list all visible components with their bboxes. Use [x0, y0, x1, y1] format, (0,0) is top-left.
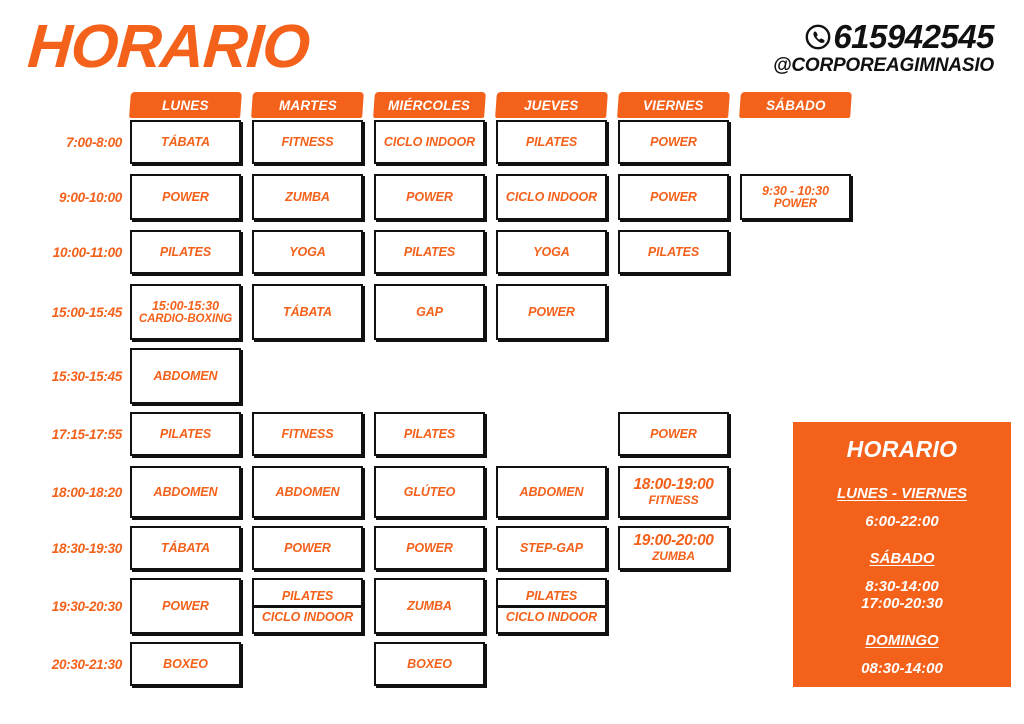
class-slot[interactable]: POWER [618, 412, 729, 456]
time-slot-label: 15:30-15:45 [0, 348, 130, 404]
class-slot[interactable]: POWER [374, 174, 485, 220]
class-slot[interactable]: POWER [130, 174, 241, 220]
class-slot[interactable]: STEP-GAP [496, 526, 607, 570]
schedule-cell-wrapper: TÁBATA [130, 120, 241, 164]
class-name: GAP [416, 305, 443, 319]
class-slot[interactable]: PILATES [496, 120, 607, 164]
day-header-tab[interactable]: VIERNES [617, 92, 730, 118]
opening-hours-title: HORARIO [793, 436, 1011, 463]
schedule-row: 7:00-8:00TÁBATAFITNESSCICLO INDOORPILATE… [0, 120, 1024, 164]
schedule-cell-wrapper [740, 348, 851, 404]
schedule-cell-wrapper: CICLO INDOOR [496, 174, 607, 220]
class-slot[interactable]: GLÚTEO [374, 466, 485, 518]
class-name: STEP-GAP [520, 541, 583, 555]
class-name: PILATES [526, 135, 577, 149]
schedule-cell-wrapper: POWER [618, 174, 729, 220]
schedule-cell-wrapper [496, 642, 607, 686]
day-column-5: VIERNES [618, 92, 729, 118]
empty-slot [618, 578, 729, 634]
day-header-row: LUNESMARTESMIÉRCOLESJUEVESVIERNESSÁBADO [0, 92, 1024, 120]
schedule-cell-wrapper: FITNESS [252, 412, 363, 456]
day-header-label: MIÉRCOLES [388, 98, 470, 113]
schedule-cell-wrapper: ZUMBA [374, 578, 485, 634]
day-header-label: JUEVES [524, 98, 578, 113]
class-name: POWER [406, 190, 453, 204]
schedule-cell-wrapper [252, 348, 363, 404]
day-column-2: MARTES [252, 92, 363, 118]
schedule-cell-wrapper: BOXEO [374, 642, 485, 686]
schedule-cell-wrapper: CICLO INDOOR [374, 120, 485, 164]
empty-slot [740, 348, 851, 404]
class-name: POWER [162, 599, 209, 613]
class-slot[interactable]: 9:30 - 10:30POWER [740, 174, 851, 220]
time-slot-label: 10:00-11:00 [0, 230, 130, 274]
schedule-cell-wrapper: GAP [374, 284, 485, 340]
class-name: CICLO INDOOR [384, 135, 475, 149]
class-slot[interactable]: PILATES [130, 230, 241, 274]
schedule-cell-wrapper: TÁBATA [130, 526, 241, 570]
class-name: CARDIO-BOXING [139, 313, 232, 326]
empty-slot [496, 348, 607, 404]
time-slot-label: 19:30-20:30 [0, 578, 130, 634]
class-name: POWER [406, 541, 453, 555]
class-slot[interactable]: YOGA [496, 230, 607, 274]
class-name: ABDOMEN [520, 485, 584, 499]
class-name: BOXEO [163, 657, 208, 671]
class-name: ZUMBA [285, 190, 330, 204]
class-slot[interactable]: TÁBATA [252, 284, 363, 340]
day-header-tab[interactable]: SÁBADO [739, 92, 852, 118]
slot-divider [254, 605, 361, 608]
class-name: PILATES [404, 427, 455, 441]
class-name: BOXEO [407, 657, 452, 671]
class-name: PILATES [404, 245, 455, 259]
class-name-secondary: CICLO INDOOR [254, 610, 361, 624]
day-header-tab[interactable]: MARTES [251, 92, 364, 118]
phone-circle-icon [805, 24, 831, 50]
class-slot[interactable]: CICLO INDOOR [496, 174, 607, 220]
schedule-cell-wrapper: ABDOMEN [130, 348, 241, 404]
schedule-cell-wrapper [496, 348, 607, 404]
empty-slot [618, 284, 729, 340]
class-name: POWER [774, 198, 817, 211]
time-slot-label: 18:30-19:30 [0, 526, 130, 570]
class-name: POWER [528, 305, 575, 319]
class-slot[interactable]: PILATES [130, 412, 241, 456]
class-name-primary: PILATES [254, 589, 361, 603]
class-name: ZUMBA [407, 599, 452, 613]
phone-row: 615942545 [773, 20, 994, 53]
day-header-tab[interactable]: MIÉRCOLES [373, 92, 486, 118]
class-name: PILATES [160, 427, 211, 441]
day-header-label: MARTES [279, 98, 337, 113]
schedule-cell-wrapper: PILATES [374, 230, 485, 274]
day-column-6: SÁBADO [740, 92, 851, 118]
class-name: TÁBATA [283, 305, 332, 319]
class-name: POWER [650, 135, 697, 149]
schedule-cell-wrapper: PILATESCICLO INDOOR [252, 578, 363, 634]
schedule-row: 9:00-10:00POWERZUMBAPOWERCICLO INDOORPOW… [0, 174, 1024, 220]
schedule-cell-wrapper: BOXEO [130, 642, 241, 686]
schedule-cell-wrapper: POWER [374, 526, 485, 570]
schedule-cell-wrapper: 19:00-20:00ZUMBA [618, 526, 729, 570]
day-header-tab[interactable]: JUEVES [495, 92, 608, 118]
class-slot-timed[interactable]: 19:00-20:00ZUMBA [618, 526, 729, 570]
schedule-row: 10:00-11:00PILATESYOGAPILATESYOGAPILATES [0, 230, 1024, 274]
schedule-cell-wrapper: STEP-GAP [496, 526, 607, 570]
schedule-cell-wrapper: ABDOMEN [252, 466, 363, 518]
class-slot[interactable]: POWER [618, 174, 729, 220]
class-slot[interactable]: 15:00-15:30CARDIO-BOXING [130, 284, 241, 340]
class-name: ABDOMEN [154, 369, 218, 383]
time-slot-label: 18:00-18:20 [0, 466, 130, 518]
empty-slot [740, 284, 851, 340]
schedule-cell-wrapper: PILATES [130, 412, 241, 456]
class-name: CICLO INDOOR [506, 190, 597, 204]
day-header-label: LUNES [162, 98, 209, 113]
class-slot[interactable]: TÁBATA [130, 120, 241, 164]
opening-hours-day: DOMINGO [793, 632, 1011, 649]
class-name: ABDOMEN [154, 485, 218, 499]
slot-divider [498, 605, 605, 608]
schedule-cell-wrapper [496, 412, 607, 456]
phone-number: 615942545 [833, 20, 994, 53]
day-column-4: JUEVES [496, 92, 607, 118]
schedule-cell-wrapper: 9:30 - 10:30POWER [740, 174, 851, 220]
class-name: PILATES [160, 245, 211, 259]
opening-hours-value: 6:00-22:00 [793, 513, 1011, 531]
empty-slot [618, 348, 729, 404]
class-name-primary: PILATES [498, 589, 605, 603]
schedule-cell-wrapper [252, 642, 363, 686]
empty-slot [252, 642, 363, 686]
schedule-cell-wrapper [740, 230, 851, 274]
slot-time-range: 18:00-19:00 [633, 477, 713, 493]
schedule-cell-wrapper: PILATES [496, 120, 607, 164]
schedule-cell-wrapper: FITNESS [252, 120, 363, 164]
time-slot-label: 9:00-10:00 [0, 174, 130, 220]
schedule-cell-wrapper: YOGA [496, 230, 607, 274]
slot-time-range: 9:30 - 10:30 [762, 184, 829, 198]
schedule-cell-wrapper: GLÚTEO [374, 466, 485, 518]
class-slot[interactable]: CICLO INDOOR [374, 120, 485, 164]
empty-slot [496, 642, 607, 686]
class-slot[interactable]: PILATES [618, 230, 729, 274]
class-slot[interactable]: FITNESS [252, 120, 363, 164]
day-column-3: MIÉRCOLES [374, 92, 485, 118]
class-slot[interactable]: FITNESS [252, 412, 363, 456]
time-slot-label: 20:30-21:30 [0, 642, 130, 686]
empty-slot [374, 348, 485, 404]
opening-hours-day: SÁBADO [793, 550, 1011, 567]
class-slot[interactable]: YOGA [252, 230, 363, 274]
opening-hours-box: HORARIO LUNES - VIERNES6:00-22:00SÁBADO8… [793, 422, 1011, 687]
class-slot-split[interactable]: PILATESCICLO INDOOR [496, 578, 607, 634]
schedule-cell-wrapper: 18:00-19:00FITNESS [618, 466, 729, 518]
schedule-cell-wrapper: PILATESCICLO INDOOR [496, 578, 607, 634]
class-slot[interactable]: GAP [374, 284, 485, 340]
class-slot[interactable]: POWER [496, 284, 607, 340]
schedule-cell-wrapper: ABDOMEN [496, 466, 607, 518]
contact-block: 615942545 @CORPOREAGIMNASIO [773, 20, 994, 77]
empty-slot [740, 230, 851, 274]
schedule-row: 15:30-15:45ABDOMEN [0, 348, 1024, 404]
class-slot-timed[interactable]: 18:00-19:00FITNESS [618, 466, 729, 518]
empty-slot [740, 120, 851, 164]
opening-hours-entries: LUNES - VIERNES6:00-22:00SÁBADO8:30-14:0… [793, 485, 1011, 678]
class-slot[interactable]: ABDOMEN [130, 466, 241, 518]
class-slot[interactable]: PILATES [374, 230, 485, 274]
class-name: FITNESS [281, 135, 333, 149]
slot-time-range: 19:00-20:00 [633, 533, 713, 549]
instagram-handle: @CORPOREAGIMNASIO [773, 55, 994, 77]
opening-hours-value: 8:30-14:00 17:00-20:30 [793, 578, 1011, 613]
class-name: ZUMBA [652, 550, 695, 563]
class-slot[interactable]: ZUMBA [374, 578, 485, 634]
page-header: HORARIO 615942545 @CORPOREAGIMNASIO [0, 0, 1024, 92]
schedule-cell-wrapper: PILATES [618, 230, 729, 274]
schedule-cell-wrapper [740, 120, 851, 164]
schedule-cell-wrapper [618, 642, 729, 686]
class-slot[interactable]: POWER [252, 526, 363, 570]
schedule-cell-wrapper: POWER [618, 120, 729, 164]
day-header-label: SÁBADO [766, 98, 826, 113]
class-name: YOGA [533, 245, 569, 259]
page-title: HORARIO [26, 16, 311, 77]
class-slot[interactable]: BOXEO [130, 642, 241, 686]
class-name: POWER [284, 541, 331, 555]
class-slot[interactable]: ABDOMEN [130, 348, 241, 404]
class-slot[interactable]: PILATES [374, 412, 485, 456]
class-slot[interactable]: ABDOMEN [496, 466, 607, 518]
time-slot-label: 17:15-17:55 [0, 412, 130, 456]
class-name-secondary: CICLO INDOOR [498, 610, 605, 624]
schedule-cell-wrapper [374, 348, 485, 404]
schedule-cell-wrapper: POWER [130, 174, 241, 220]
schedule-cell-wrapper: ZUMBA [252, 174, 363, 220]
opening-hours-day: LUNES - VIERNES [793, 485, 1011, 502]
day-column-1: LUNES [130, 92, 241, 118]
class-slot[interactable]: POWER [618, 120, 729, 164]
class-name: PILATES [648, 245, 699, 259]
schedule-cell-wrapper [740, 284, 851, 340]
schedule-cell-wrapper: TÁBATA [252, 284, 363, 340]
schedule-cell-wrapper: PILATES [130, 230, 241, 274]
class-name: ABDOMEN [276, 485, 340, 499]
schedule-cell-wrapper: POWER [618, 412, 729, 456]
time-slot-label: 7:00-8:00 [0, 120, 130, 164]
schedule-cell-wrapper: PILATES [374, 412, 485, 456]
slot-time-range: 15:00-15:30 [152, 299, 219, 313]
class-slot[interactable]: TÁBATA [130, 526, 241, 570]
time-slot-label: 15:00-15:45 [0, 284, 130, 340]
day-header-label: VIERNES [643, 98, 704, 113]
day-header-tab[interactable]: LUNES [129, 92, 242, 118]
empty-slot [618, 642, 729, 686]
class-name: POWER [650, 190, 697, 204]
class-name: TÁBATA [161, 541, 210, 555]
class-slot-split[interactable]: PILATESCICLO INDOOR [252, 578, 363, 634]
schedule-cell-wrapper: POWER [252, 526, 363, 570]
schedule-cell-wrapper: YOGA [252, 230, 363, 274]
class-slot[interactable]: POWER [130, 578, 241, 634]
class-slot[interactable]: ABDOMEN [252, 466, 363, 518]
schedule-cell-wrapper: POWER [496, 284, 607, 340]
schedule-cell-wrapper: POWER [130, 578, 241, 634]
empty-slot [496, 412, 607, 456]
schedule-row: 15:00-15:4515:00-15:30CARDIO-BOXINGTÁBAT… [0, 284, 1024, 340]
empty-slot [252, 348, 363, 404]
schedule-cell-wrapper [618, 284, 729, 340]
schedule-cell-wrapper: POWER [374, 174, 485, 220]
class-name: TÁBATA [161, 135, 210, 149]
class-name: YOGA [289, 245, 325, 259]
schedule-cell-wrapper [618, 578, 729, 634]
class-slot[interactable]: POWER [374, 526, 485, 570]
class-name: POWER [162, 190, 209, 204]
schedule-cell-wrapper: ABDOMEN [130, 466, 241, 518]
class-name: FITNESS [649, 494, 699, 507]
class-name: POWER [650, 427, 697, 441]
class-name: GLÚTEO [404, 485, 455, 499]
opening-hours-value: 08:30-14:00 [793, 660, 1011, 678]
class-slot[interactable]: ZUMBA [252, 174, 363, 220]
schedule-cell-wrapper: 15:00-15:30CARDIO-BOXING [130, 284, 241, 340]
class-slot[interactable]: BOXEO [374, 642, 485, 686]
class-name: FITNESS [281, 427, 333, 441]
schedule-cell-wrapper [618, 348, 729, 404]
